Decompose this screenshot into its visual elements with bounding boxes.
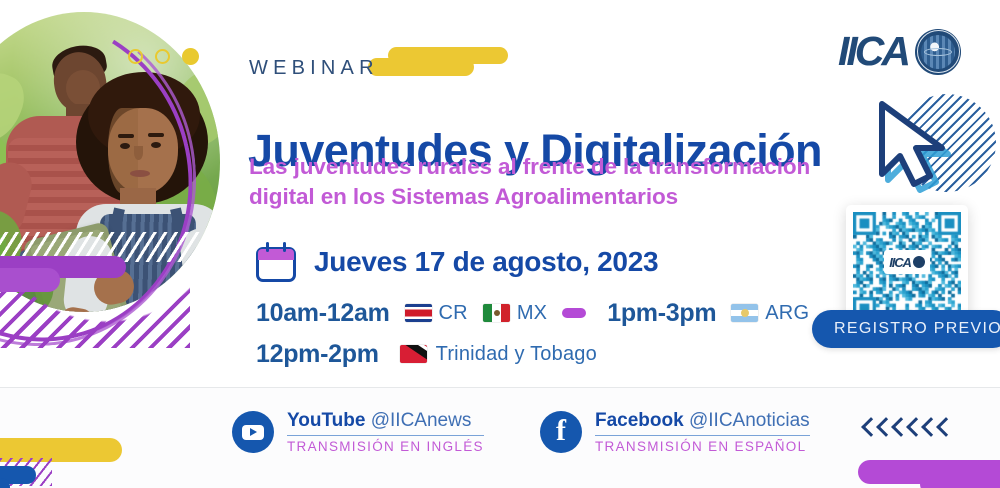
event-times: 10am-12am CR MX 1pm-3pm ARG 12pm-2pm Tri… [256,296,876,371]
qr-logo-text: IICA [889,255,911,270]
youtube-platform: YouTube [287,410,365,431]
purple-bar-decoration [0,268,60,292]
cursor-arrow-icon [876,98,960,190]
country-label: Trinidad y Tobago [436,343,597,366]
facebook-icon: f [540,411,582,453]
facebook-f-glyph: f [556,416,566,446]
registro-previo-label: REGISTRO PREVIO [822,320,1000,338]
footer [0,388,1000,488]
time-range: 1pm-3pm [607,299,716,328]
country-label: CR [439,302,468,325]
facebook-note: TRANSMISIÓN EN ESPAÑOL [595,439,810,454]
yellow-circle-filled-icon [182,48,199,65]
chevron-left-icon [936,417,956,437]
calendar-icon [256,242,296,282]
country-label: ARG [765,302,809,325]
youtube-icon [232,411,274,453]
time-range: 10am-12am [256,299,390,328]
iica-logo: IICA [838,28,961,75]
purple-pill-divider [562,308,586,318]
yellow-bars-decoration [368,47,508,83]
facebook-channel[interactable]: f Facebook @IICAnoticias TRANSMISIÓN EN … [540,410,810,454]
time-row: 12pm-2pm Trinidad y Tobago [256,337,876,371]
kicker-row: WEBINAR [249,57,379,80]
registro-previo-button[interactable]: REGISTRO PREVIO [812,310,1000,348]
qr-center-logo: IICA [884,250,930,274]
facebook-platform: Facebook [595,410,684,431]
facebook-text: Facebook @IICAnoticias TRANSMISIÓN EN ES… [595,410,810,454]
argentina-flag-icon [731,304,758,322]
mexico-flag-icon [483,304,510,322]
costa-rica-flag-icon [405,304,432,322]
globe-emblem-icon [915,29,961,75]
yellow-dots-decoration [128,48,199,65]
youtube-handle: @IICAnews [371,410,472,431]
youtube-play-glyph [242,425,264,440]
youtube-note: TRANSMISIÓN EN INGLÉS [287,439,484,454]
youtube-handle-line: YouTube @IICAnews [287,410,484,436]
yellow-circle-outline-icon [128,49,143,64]
time-row: 10am-12am CR MX 1pm-3pm ARG [256,296,876,330]
facebook-handle: @IICAnoticias [689,410,810,431]
yellow-bar [368,58,474,76]
trinidad-tobago-flag-icon [400,345,427,363]
country-label: MX [517,302,547,325]
cursor-decoration [866,88,996,200]
iica-wordmark: IICA [838,28,908,75]
calendar-ring [266,242,269,252]
yellow-circle-outline-icon [155,49,170,64]
calendar-header-band [258,249,294,260]
youtube-text: YouTube @IICAnews TRANSMISIÓN EN INGLÉS [287,410,484,454]
calendar-ring [283,242,286,252]
webinar-flyer: WEBINAR Juventudes y Digitalización Las … [0,0,1000,488]
webinar-kicker: WEBINAR [249,57,379,80]
facebook-handle-line: Facebook @IICAnoticias [595,410,810,436]
time-range: 12pm-2pm [256,340,379,369]
page-subtitle: Las juventudes rurales al frente de la t… [249,152,849,212]
event-date: Jueves 17 de agosto, 2023 [314,246,658,278]
youtube-channel[interactable]: YouTube @IICAnews TRANSMISIÓN EN INGLÉS [232,410,484,454]
purple-bar-decoration [920,472,1000,488]
globe-ring [917,30,960,73]
qr-logo-globe-icon [913,256,925,268]
chevron-decoration [864,420,953,434]
